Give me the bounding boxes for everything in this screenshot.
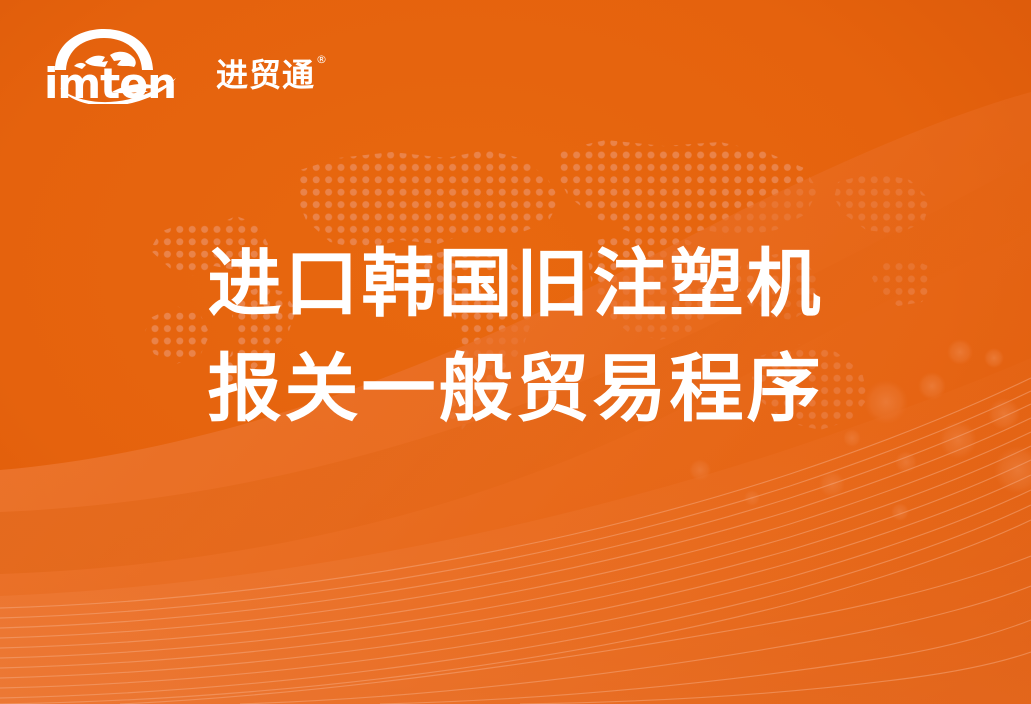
promo-banner: imton 进贸通 ® 进口韩国旧注塑机 报关一般贸易程序 [0, 0, 1031, 704]
headline-line-1: 进口韩国旧注塑机 [0, 232, 1031, 337]
logo-chinese-text: 进贸通 [216, 56, 315, 94]
headline: 进口韩国旧注塑机 报关一般贸易程序 [0, 232, 1031, 442]
registered-trademark-icon: ® [316, 54, 328, 65]
brand-logo[interactable]: imton 进贸通 ® [42, 26, 315, 104]
imton-globe-logo: imton [42, 26, 214, 104]
svg-text:imton: imton [44, 59, 176, 104]
headline-line-2: 报关一般贸易程序 [0, 337, 1031, 442]
logo-chinese-wordmark: 进贸通 ® [216, 59, 315, 91]
